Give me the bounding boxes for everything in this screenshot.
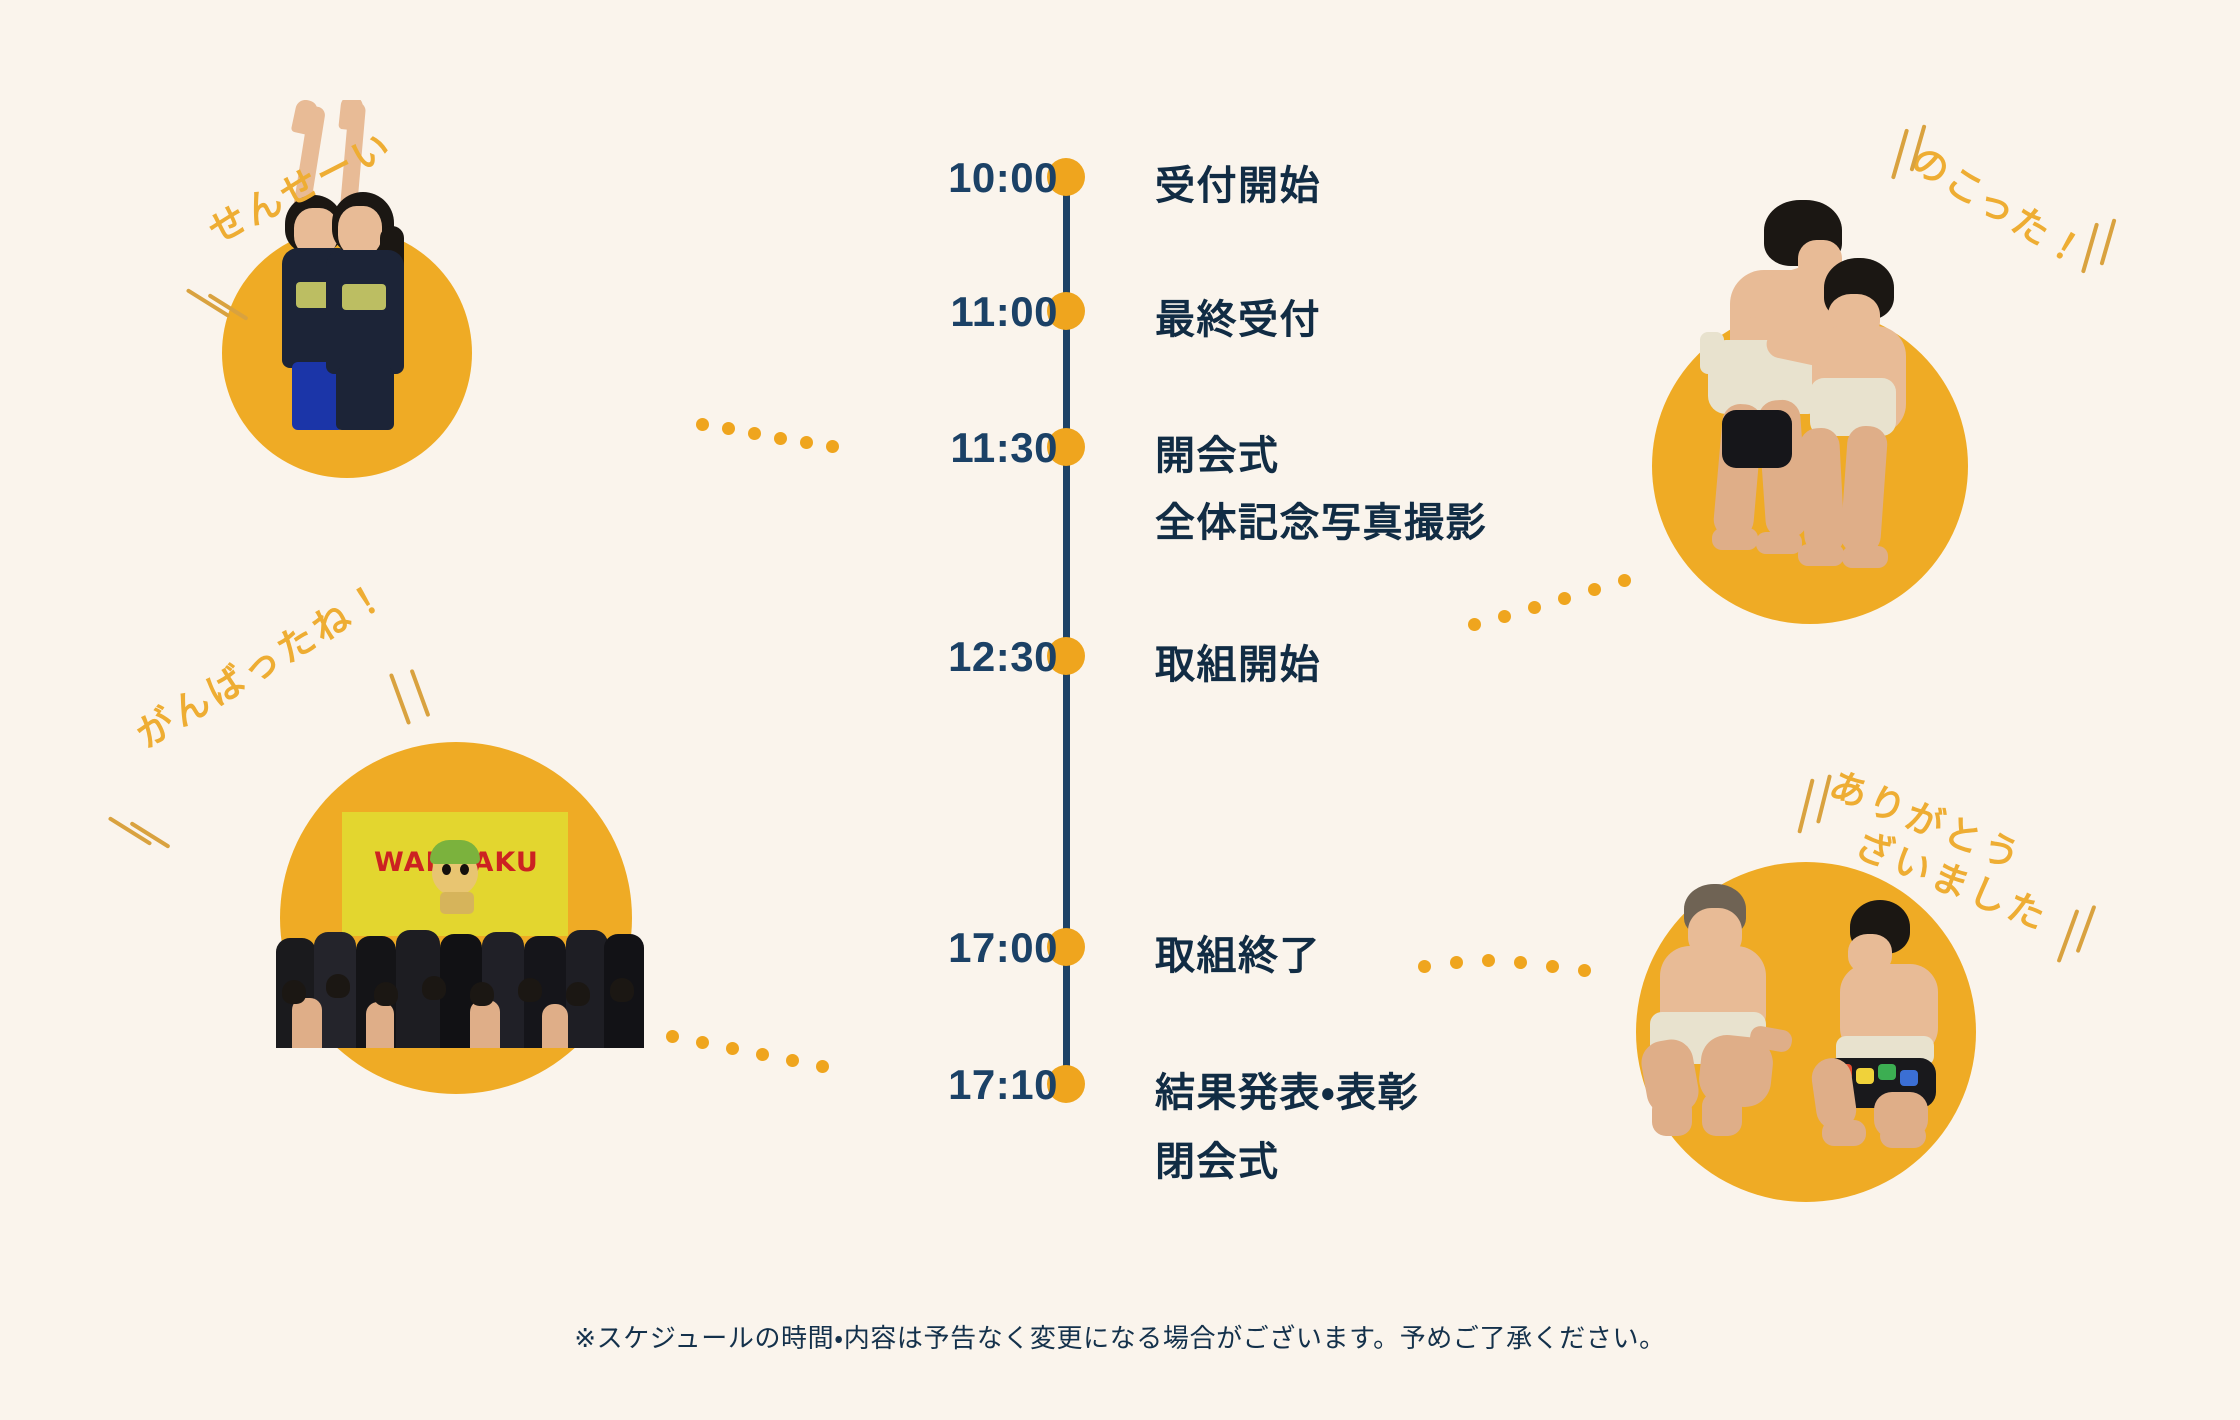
timeline-time-5: 17:00 <box>868 924 1058 972</box>
timeline-time-3: 11:30 <box>868 424 1058 472</box>
timeline-event-2: 最終受付 <box>1155 289 1321 351</box>
timeline-event-6b: 閉会式 <box>1155 1131 1280 1193</box>
photo-group-banner: WANDAKU <box>274 812 644 1048</box>
callout-nokotta-tick-4 <box>2099 218 2116 265</box>
timeline-event-4: 取組開始 <box>1155 634 1321 696</box>
callout-arigatou-tick-3 <box>2057 909 2080 963</box>
callout-ganbatta: がんばったね！ <box>128 571 398 758</box>
timeline-time-1: 10:00 <box>868 154 1058 202</box>
timeline-event-3b: 全体記念写真撮影 <box>1155 492 1487 554</box>
photo-sumo-bout <box>1652 188 1982 624</box>
callout-arigatou-tick-1 <box>1797 778 1814 833</box>
connector-bout-to-1230 <box>1468 568 1648 638</box>
timeline-time-6: 17:10 <box>868 1061 1058 1109</box>
schedule-disclaimer: ※スケジュールの時間・内容は予告なく変更になる場合がございます。予めご了承くださ… <box>0 1318 2240 1355</box>
photo-sumo-squat <box>1636 878 2006 1208</box>
connector-kids-to-1130 <box>696 406 846 456</box>
callout-ganbatta-tick-3 <box>389 673 411 725</box>
connector-1700-to-squat <box>1418 942 1618 982</box>
timeline-time-4: 12:30 <box>868 633 1058 681</box>
timeline-event-1: 受付開始 <box>1155 155 1321 217</box>
timeline-event-3a: 開会式 <box>1155 425 1280 487</box>
timeline-event-5: 取組終了 <box>1155 925 1321 987</box>
connector-group-to-1710 <box>666 1022 856 1082</box>
timeline-event-6a: 結果発表・表彰 <box>1155 1062 1419 1124</box>
schedule-page: せんせーい WANDAKU <box>0 0 2240 1420</box>
callout-ganbatta-tick-4 <box>410 669 431 717</box>
timeline-time-2: 11:00 <box>868 288 1058 336</box>
